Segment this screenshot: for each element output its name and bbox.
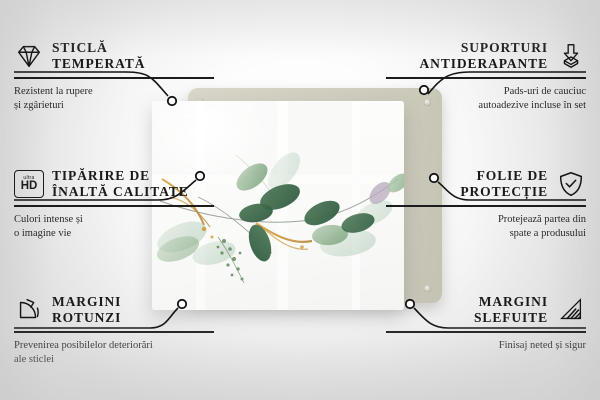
feature-title-line2: ÎNALTĂ CALITATE [52, 184, 189, 199]
feature-desc-line1: Prevenirea posibilelor deteriorări [14, 340, 153, 351]
feature-title-line1: SUPORTURI [461, 40, 548, 55]
feature-rule [386, 205, 586, 207]
feature-header: STICLĂ TEMPERATĂ [14, 40, 214, 72]
feature-title: MARGINI SLEFUITE [474, 294, 548, 326]
feature-rule [14, 205, 214, 207]
feature-desc-line2: și zgârieturi [14, 100, 64, 111]
feature-desc-line1: Protejează partea din [498, 214, 586, 225]
feature-tiparire-inalta-calitate: ultra HD TIPĂRIRE DE ÎNALTĂ CALITATE Cul… [14, 168, 214, 241]
feature-desc-line2: autoadezive incluse în set [478, 100, 586, 111]
shield-check-icon [556, 169, 586, 199]
feature-title-line1: STICLĂ [52, 40, 108, 55]
feature-title: TIPĂRIRE DE ÎNALTĂ CALITATE [52, 168, 189, 200]
anti-slip-pad-icon [556, 41, 586, 71]
feature-title-line2: PROTECȚIE [460, 184, 548, 199]
feature-description: Culori intense și o imagine vie [14, 213, 214, 241]
diamond-icon [14, 41, 44, 71]
feature-desc-line1: Culori intense și [14, 214, 83, 225]
feature-header: SUPORTURI ANTIDERAPANTE [386, 40, 586, 72]
polished-edge-icon [556, 295, 586, 325]
feature-desc-line2: spate a produsului [510, 228, 586, 239]
infographic-canvas: STICLĂ TEMPERATĂ Rezistent la rupere și … [0, 0, 600, 400]
feature-title: SUPORTURI ANTIDERAPANTE [420, 40, 548, 72]
feature-rule [386, 331, 586, 333]
feature-desc-line1: Rezistent la rupere [14, 86, 93, 97]
feature-title-line2: ROTUNZI [52, 310, 121, 325]
feature-header: MARGINI SLEFUITE [386, 294, 586, 326]
feature-desc-line1: Finisaj neted și sigur [499, 340, 586, 351]
feature-desc-line2: ale sticlei [14, 354, 54, 365]
feature-title-line2: TEMPERATĂ [52, 56, 145, 71]
feature-desc-line2: o imagine vie [14, 228, 71, 239]
feature-title: FOLIE DE PROTECȚIE [460, 168, 548, 200]
feature-title-line2: SLEFUITE [474, 310, 548, 325]
feature-margini-rotunzi: MARGINI ROTUNZI Prevenirea posibilelor d… [14, 294, 214, 367]
feature-description: Prevenirea posibilelor deteriorări ale s… [14, 339, 214, 367]
ultra-hd-badge-main: HD [21, 181, 38, 193]
feature-title-line1: MARGINI [479, 294, 548, 309]
rubber-foot-icon [424, 285, 431, 292]
feature-header: ultra HD TIPĂRIRE DE ÎNALTĂ CALITATE [14, 168, 214, 200]
feature-title-line1: MARGINI [52, 294, 121, 309]
feature-sticla-temperata: STICLĂ TEMPERATĂ Rezistent la rupere și … [14, 40, 214, 113]
feature-description: Rezistent la rupere și zgârieturi [14, 85, 214, 113]
feature-desc-line1: Pads-uri de cauciuc [504, 86, 586, 97]
feature-title-line2: ANTIDERAPANTE [420, 56, 548, 71]
feature-rule [14, 331, 214, 333]
rounded-corner-icon [14, 295, 44, 325]
feature-folie-de-protectie: FOLIE DE PROTECȚIE Protejează partea din… [386, 168, 586, 241]
feature-title: STICLĂ TEMPERATĂ [52, 40, 145, 72]
feature-header: MARGINI ROTUNZI [14, 294, 214, 326]
feature-margini-slefuite: MARGINI SLEFUITE Finisaj neted și sigur [386, 294, 586, 353]
feature-description: Pads-uri de cauciuc autoadezive incluse … [386, 85, 586, 113]
ultra-hd-icon: ultra HD [14, 170, 44, 198]
feature-rule [386, 77, 586, 79]
feature-suporturi-antiderapante: SUPORTURI ANTIDERAPANTE Pads-uri de cauc… [386, 40, 586, 113]
feature-header: FOLIE DE PROTECȚIE [386, 168, 586, 200]
feature-title-line1: FOLIE DE [477, 168, 548, 183]
feature-title-line1: TIPĂRIRE DE [52, 168, 150, 183]
feature-rule [14, 77, 214, 79]
feature-description: Protejează partea din spate a produsului [386, 213, 586, 241]
feature-description: Finisaj neted și sigur [386, 339, 586, 353]
feature-title: MARGINI ROTUNZI [52, 294, 121, 326]
